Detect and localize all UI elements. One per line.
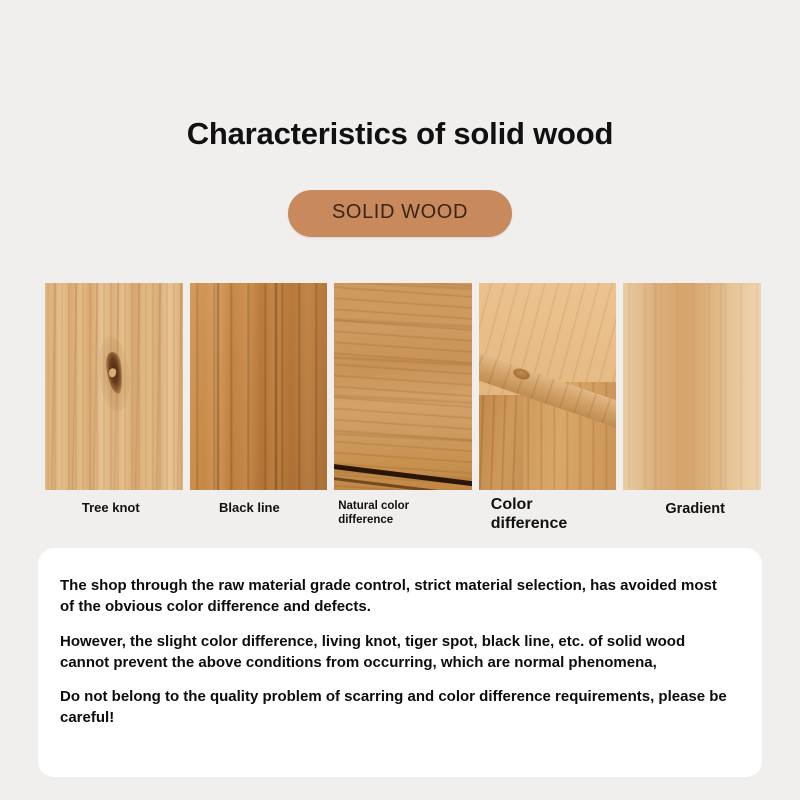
notice-card: The shop through the raw material grade … <box>38 548 762 777</box>
caption-color-difference: Colordifference <box>477 496 623 544</box>
grain-texture-icon <box>190 283 328 490</box>
caption-tree-knot: Tree knot <box>45 496 177 544</box>
caption-natural-color-difference: Natural colordifference <box>322 496 470 544</box>
notice-paragraph-3: Do not belong to the quality problem of … <box>60 686 732 729</box>
wood-sample-black-line <box>190 283 328 490</box>
page-title: Characteristics of solid wood <box>0 116 800 152</box>
grain-texture-icon <box>623 283 761 490</box>
wood-sample-tree-knot <box>45 283 183 490</box>
caption-gradient: Gradient <box>629 496 761 544</box>
wood-sample-captions: Tree knot Black line Natural colordiffer… <box>45 496 761 544</box>
badge-row: SOLID WOOD <box>0 190 800 237</box>
caption-black-line: Black line <box>184 496 316 544</box>
wood-sample-color-difference <box>479 283 617 490</box>
notice-paragraph-1: The shop through the raw material grade … <box>60 575 732 618</box>
grain-texture-icon <box>334 283 472 490</box>
table-side-left <box>479 395 529 490</box>
solid-wood-badge: SOLID WOOD <box>288 190 512 237</box>
notice-paragraph-2: However, the slight color difference, li… <box>60 631 732 674</box>
notice-card-body: The shop through the raw material grade … <box>38 548 762 729</box>
wood-sample-natural-color-difference <box>334 283 472 490</box>
wood-sample-strip <box>45 283 761 490</box>
wood-sample-gradient <box>623 283 761 490</box>
